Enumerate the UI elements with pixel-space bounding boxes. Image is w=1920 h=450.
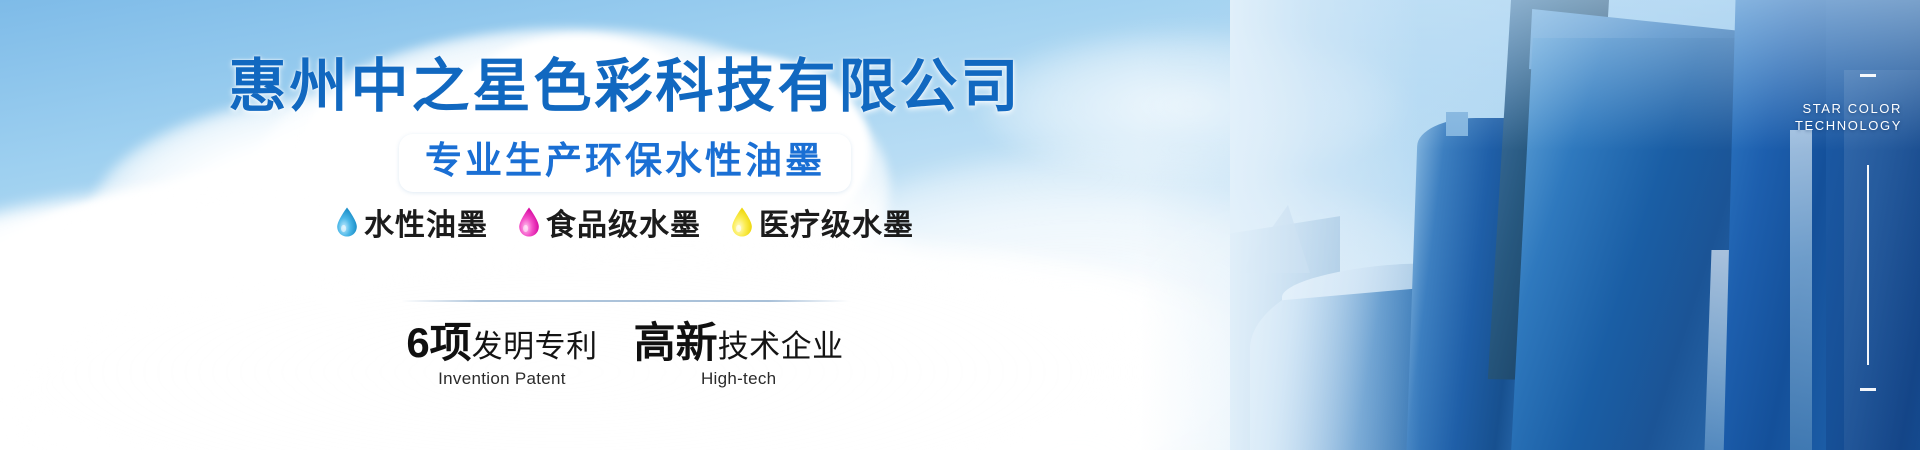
brand-tick-top-icon — [1860, 74, 1876, 77]
credential-rest: 技术企业 — [718, 329, 844, 364]
water-drop-icon — [518, 207, 540, 237]
feature-item: 食品级水墨 — [518, 200, 701, 244]
company-name-headline: 惠州中之星色彩科技有限公司 — [0, 58, 1250, 116]
subtitle-pill-wrap: 专业生产环保水性油墨 — [0, 134, 1250, 192]
feature-item: 水性油墨 — [336, 200, 488, 244]
water-drop-icon — [731, 207, 753, 237]
feature-label: 水性油墨 — [364, 200, 488, 244]
feature-item: 医疗级水墨 — [731, 200, 914, 244]
company-hero-banner: Star Color STAR COLOR TECHNOLOGY 惠州中之星色彩… — [0, 0, 1920, 450]
brand-vertical-rule — [1867, 165, 1869, 365]
credentials-list: 6项发明专利 Invention Patent 高新技术企业 High-tech — [0, 322, 1250, 389]
subtitle-pill: 专业生产环保水性油墨 — [399, 134, 851, 192]
building-sliver-right — [1790, 130, 1812, 450]
brand-tick-bottom-icon — [1860, 388, 1876, 391]
section-divider — [401, 300, 849, 302]
feature-list: 水性油墨 — [0, 200, 1250, 244]
credential-title: 高新技术企业 — [634, 322, 844, 364]
brand-mark-line2: TECHNOLOGY — [1795, 117, 1902, 134]
credential-title: 6项发明专利 — [406, 322, 597, 364]
banner-content: 惠州中之星色彩科技有限公司 专业生产环保水性油墨 — [0, 0, 1250, 450]
building-left-haze — [1230, 0, 1420, 450]
credential-item: 6项发明专利 Invention Patent — [406, 322, 597, 389]
credential-strong: 6项 — [406, 319, 471, 366]
credential-item: 高新技术企业 High-tech — [634, 322, 844, 389]
credential-subtitle-en: Invention Patent — [406, 369, 597, 389]
water-drop-icon — [336, 207, 358, 237]
feature-label: 医疗级水墨 — [759, 200, 914, 244]
feature-label: 食品级水墨 — [546, 200, 701, 244]
credential-strong: 高新 — [634, 319, 718, 366]
brand-mark-line1: STAR COLOR — [1795, 100, 1902, 117]
skyscraper-photo: STAR COLOR TECHNOLOGY — [1230, 0, 1920, 450]
credential-subtitle-en: High-tech — [634, 369, 844, 389]
credential-rest: 发明专利 — [472, 329, 598, 364]
brand-mark: STAR COLOR TECHNOLOGY — [1795, 100, 1902, 134]
